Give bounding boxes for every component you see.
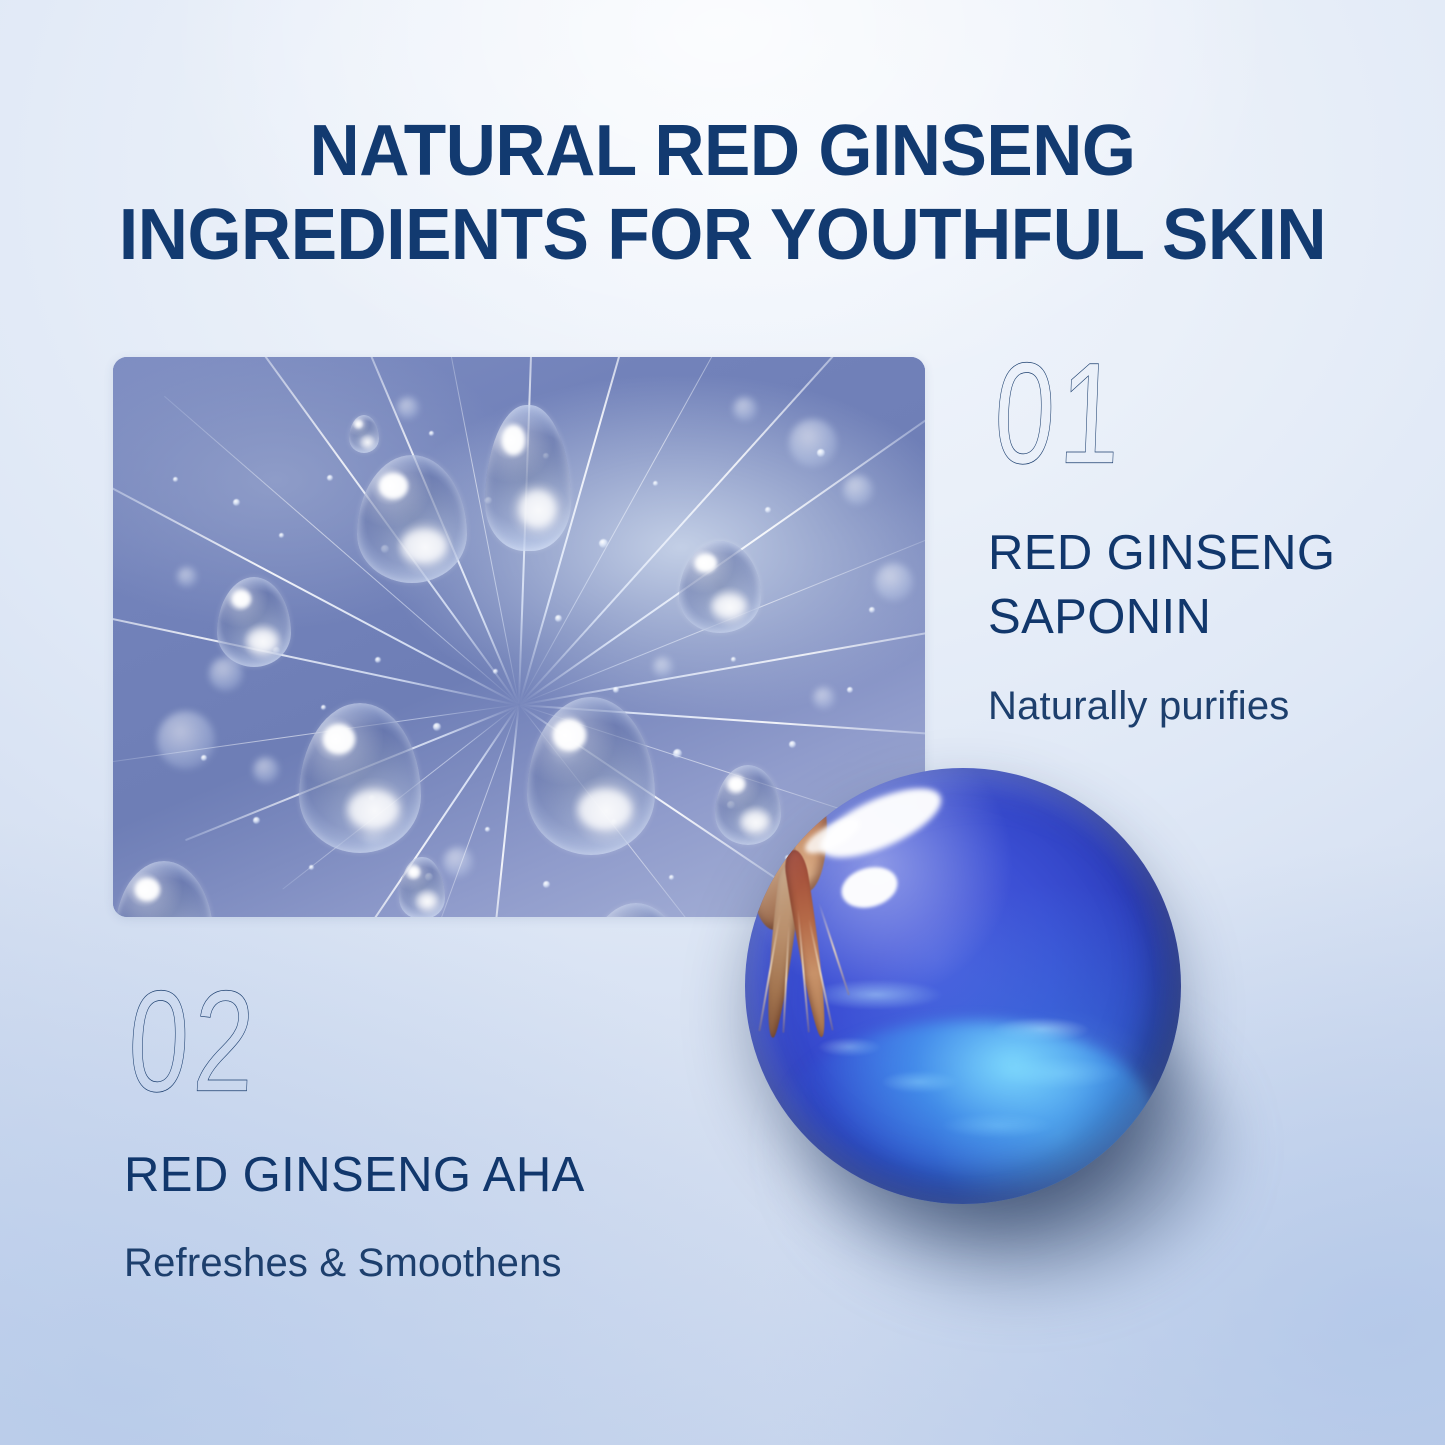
red-ginseng-orb — [745, 768, 1181, 1204]
feature-block-01: 01 RED GINSENG SAPONIN Naturally purifie… — [988, 372, 1418, 732]
feature-title-01: RED GINSENG SAPONIN — [988, 521, 1418, 650]
ingredient-infographic-poster: NATURAL RED GINSENG INGREDIENTS FOR YOUT… — [0, 0, 1445, 1445]
feature-subtitle-02: Refreshes & Smoothens — [124, 1237, 744, 1289]
feature-subtitle-01: Naturally purifies — [988, 680, 1418, 732]
feature-title-02: RED GINSENG AHA — [124, 1143, 744, 1208]
feature-number-02: 02 — [126, 976, 261, 1108]
page-title: NATURAL RED GINSENG INGREDIENTS FOR YOUT… — [25, 110, 1419, 277]
feature-number-01: 01 — [992, 348, 1127, 480]
feature-block-02: 02 RED GINSENG AHA Refreshes & Smoothens — [124, 1000, 744, 1289]
orb-rim-light — [745, 768, 1181, 1204]
